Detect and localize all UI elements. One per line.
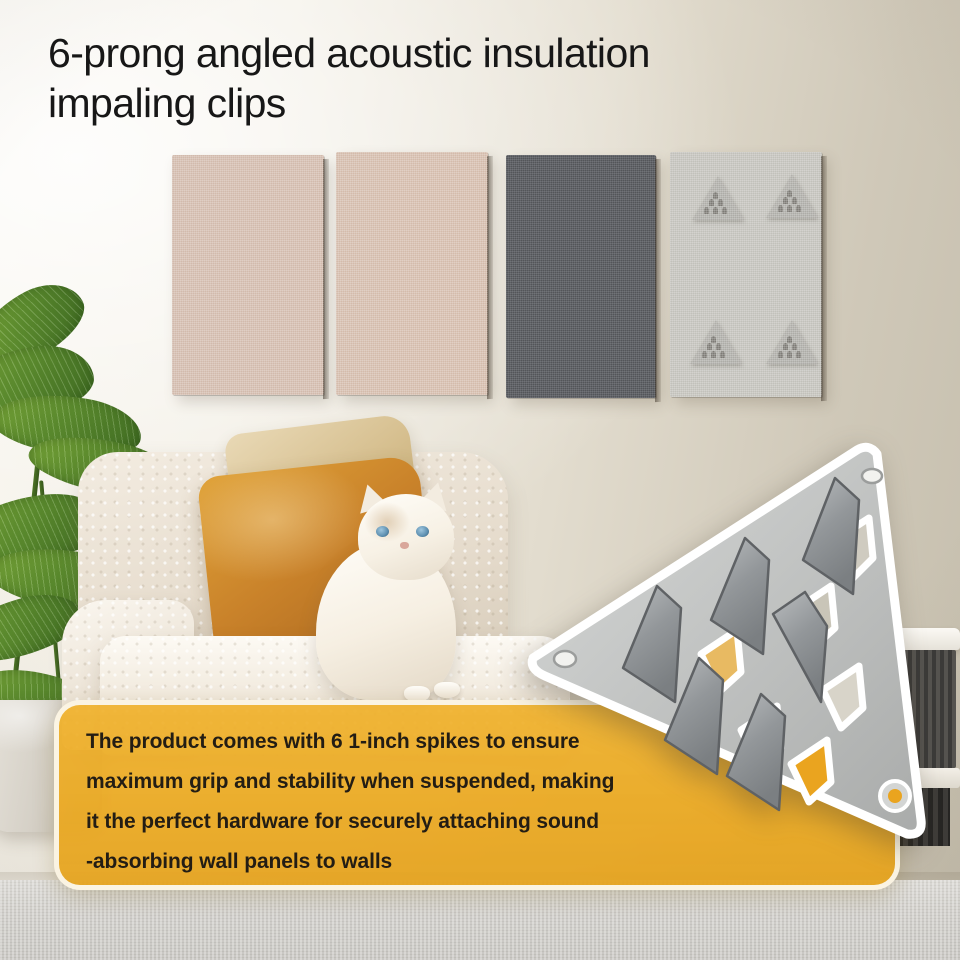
panel-edge-shadow bbox=[655, 159, 661, 402]
mounted-clip-icon bbox=[692, 176, 744, 220]
mounting-hole-top bbox=[862, 469, 882, 483]
cat bbox=[300, 480, 480, 710]
acoustic-panel-light-grey bbox=[670, 152, 822, 397]
acoustic-panel-beige-2 bbox=[336, 152, 488, 395]
cat-nose bbox=[400, 542, 409, 549]
mounted-clip-icon bbox=[766, 320, 818, 364]
cat-face-marking bbox=[364, 502, 410, 542]
panel-edge-shadow bbox=[821, 156, 827, 401]
mounting-hole-bottom bbox=[880, 781, 910, 811]
mounted-clip-icon bbox=[766, 174, 818, 218]
panel-edge-shadow bbox=[487, 156, 493, 399]
clip-spikes-icon bbox=[774, 342, 810, 360]
cat-eye-left bbox=[376, 526, 389, 537]
mounted-clip-icon bbox=[690, 320, 742, 364]
product-marketing-image: The product comes with 6 1-inch spikes t… bbox=[0, 0, 960, 960]
headline-line-2: impaling clips bbox=[48, 78, 848, 128]
clip-spikes-icon bbox=[774, 196, 810, 214]
clip-spikes-icon bbox=[700, 198, 736, 216]
page-title: 6-prong angled acoustic insulation impal… bbox=[48, 28, 848, 128]
panel-edge-shadow bbox=[323, 159, 329, 399]
cat-paw bbox=[434, 682, 460, 698]
floor-rug bbox=[0, 880, 960, 960]
headline-line-1: 6-prong angled acoustic insulation bbox=[48, 28, 848, 78]
acoustic-panel-dark-grey bbox=[506, 155, 656, 398]
triangular-impaling-clip bbox=[505, 440, 955, 880]
clip-spikes-icon bbox=[698, 342, 734, 360]
mounting-hole-left bbox=[554, 651, 576, 667]
cat-eye-right bbox=[416, 526, 429, 537]
